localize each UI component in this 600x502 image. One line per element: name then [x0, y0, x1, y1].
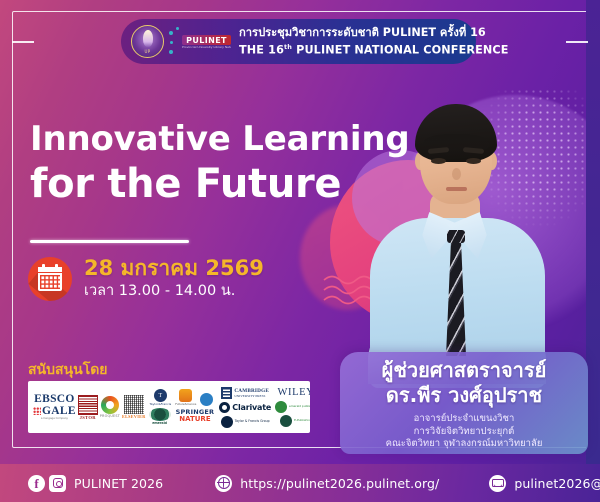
- sponsor-clarivate-text: Clarivate: [232, 403, 271, 412]
- header-dash-left: [12, 41, 34, 43]
- footer-website-url[interactable]: https://pulinet2026.pulinet.org/: [240, 476, 439, 491]
- sponsors-label: สนับสนุนโดย: [28, 359, 108, 381]
- footer-website-group[interactable]: https://pulinet2026.pulinet.org/: [215, 475, 439, 492]
- sponsor-logo-group-right: CAMBRIDGE UNIVERSITY PRESS Clarivate Tay…: [219, 387, 271, 428]
- header-text-block: การประชุมวิชาการระดับชาติ PULINET ครั้งท…: [239, 25, 509, 58]
- headline-divider: [30, 240, 189, 243]
- sponsor-emerald-text: emerald: [152, 421, 167, 425]
- pulinet-logo-icon: PULINET Provincial University Library Ne…: [169, 27, 231, 57]
- instagram-icon[interactable]: [49, 475, 66, 492]
- header-dash-right: [566, 41, 588, 43]
- portrait-hair: [415, 104, 497, 162]
- footer-email-address[interactable]: pulinet2026@up.ac.th: [514, 476, 600, 491]
- sponsor-logo-jstor: JSTOR: [78, 395, 98, 420]
- portrait-tie-knot: [447, 230, 465, 243]
- sponsor-ebsco-text: EBSCO: [34, 393, 75, 405]
- sponsor-logo-group-far-right: WILEY emerald publishing E-Publishing: [275, 387, 310, 427]
- sponsor-logo-emerald: emerald: [149, 408, 171, 425]
- pulinet-logo-wordmark: PULINET: [182, 35, 231, 45]
- sponsor-gale-subtext: a Cengage Company: [41, 417, 68, 421]
- header-title-english: THE 16th PULINET NATIONAL CONFERENCE: [239, 40, 509, 58]
- globe-icon[interactable]: [215, 475, 232, 492]
- header-title-thai: การประชุมวิชาการระดับชาติ PULINET ครั้งท…: [239, 25, 509, 40]
- sponsor-epublishing-text: E-Publishing: [294, 419, 310, 422]
- footer-email-group[interactable]: pulinet2026@up.ac.th: [489, 475, 600, 492]
- portrait-nose: [452, 168, 461, 180]
- event-time: เวลา 13.00 - 14.00 น.: [84, 282, 264, 301]
- calendar-icon: [28, 257, 72, 301]
- speaker-info-panel: ผู้ช่วยศาสตราจารย์ ดร.พีร วงศ์อุปราช อาจ…: [340, 352, 588, 454]
- sponsor-logo-elsevier: ELSEVIER: [122, 395, 146, 419]
- sponsor-cambridge-text: CAMBRIDGE: [234, 388, 269, 394]
- sponsor-elsevier-text: ELSEVIER: [122, 414, 146, 419]
- event-date: 28 มกราคม 2569: [84, 256, 264, 281]
- sponsor-logo-proquest: PROQUEST: [100, 396, 120, 418]
- sponsor-future-science-text: FutureScience: [175, 402, 196, 406]
- event-datetime-block: 28 มกราคม 2569 เวลา 13.00 - 14.00 น.: [28, 256, 264, 301]
- speaker-name: ดร.พีร วงศ์อุปราช: [386, 383, 542, 408]
- right-edge-strip: [586, 0, 600, 464]
- header-title-english-post: PULINET NATIONAL CONFERENCE: [292, 44, 509, 57]
- headline-line-1: Innovative Learning: [30, 118, 410, 160]
- speaker-affiliation: อาจารย์ประจำแขนงวิชา การวิจัยจิตวิทยาประ…: [386, 413, 543, 451]
- sponsor-wiley-text: WILEY: [278, 387, 310, 398]
- sponsor-emerald-publishing-text: emerald publishing: [289, 405, 310, 408]
- sponsor-gale-text: GALE: [33, 405, 76, 417]
- sponsor-taylor-francis-group-text: Taylor & Francis Group: [235, 420, 270, 424]
- event-datetime-text: 28 มกราคม 2569 เวลา 13.00 - 14.00 น.: [84, 256, 264, 301]
- facebook-icon[interactable]: f: [28, 475, 45, 492]
- pulinet-logo-subtitle: Provincial University Library Network: [182, 45, 231, 49]
- sponsor-cambridge-press-text: UNIVERSITY PRESS: [234, 394, 269, 398]
- university-seal-icon: UP: [131, 25, 164, 58]
- header-ordinal-suffix: th: [284, 43, 292, 51]
- mail-icon[interactable]: [489, 475, 506, 492]
- sponsor-logo-blue-mark: [200, 393, 213, 406]
- sponsor-nature-text: NATURE: [179, 416, 210, 424]
- speaker-affiliation-line-2: การวิจัยจิตวิทยาประยุกต์: [386, 426, 543, 439]
- footer-social-group[interactable]: f PULINET 2026: [28, 475, 163, 492]
- speaker-academic-title: ผู้ช่วยศาสตราจารย์: [382, 358, 547, 383]
- header-title-english-pre: THE 16: [239, 44, 284, 57]
- sponsor-logo-future-science: FutureScience: [175, 389, 196, 406]
- university-seal-label: UP: [145, 49, 151, 54]
- sponsor-logo-springer-nature: SPRINGER NATURE: [176, 409, 215, 424]
- portrait-eye-right: [466, 158, 481, 164]
- sponsor-jstor-text: JSTOR: [80, 415, 96, 420]
- portrait-mouth: [446, 187, 467, 191]
- sponsor-logo-taylor-francis: T Taylor&Francis: [149, 389, 171, 406]
- poster-headline: Innovative Learning for the Future: [30, 118, 410, 208]
- conference-header-banner: UP PULINET Provincial University Library…: [121, 19, 476, 64]
- sponsor-proquest-text: PROQUEST: [100, 414, 120, 418]
- sponsor-taylor-francis-text: Taylor&Francis: [149, 402, 171, 406]
- sponsors-logo-strip: EBSCO GALE a Cengage Company JSTOR PROQU…: [28, 381, 310, 433]
- poster-footer: f PULINET 2026 https://pulinet2026.pulin…: [0, 464, 600, 502]
- sponsor-logo-group-small: T Taylor&Francis FutureScience emerald: [148, 389, 216, 425]
- speaker-affiliation-line-1: อาจารย์ประจำแขนงวิชา: [386, 413, 543, 426]
- sponsor-logo-ebsco-gale: EBSCO GALE a Cengage Company: [33, 393, 76, 421]
- portrait-eye-left: [431, 158, 446, 164]
- headline-line-2: for the Future: [30, 160, 410, 208]
- conference-poster: UP PULINET Provincial University Library…: [0, 0, 600, 502]
- footer-social-handle: PULINET 2026: [74, 476, 163, 491]
- speaker-affiliation-line-3: คณะจิตวิทยา จุฬาลงกรณ์มหาวิทยาลัย: [386, 438, 543, 451]
